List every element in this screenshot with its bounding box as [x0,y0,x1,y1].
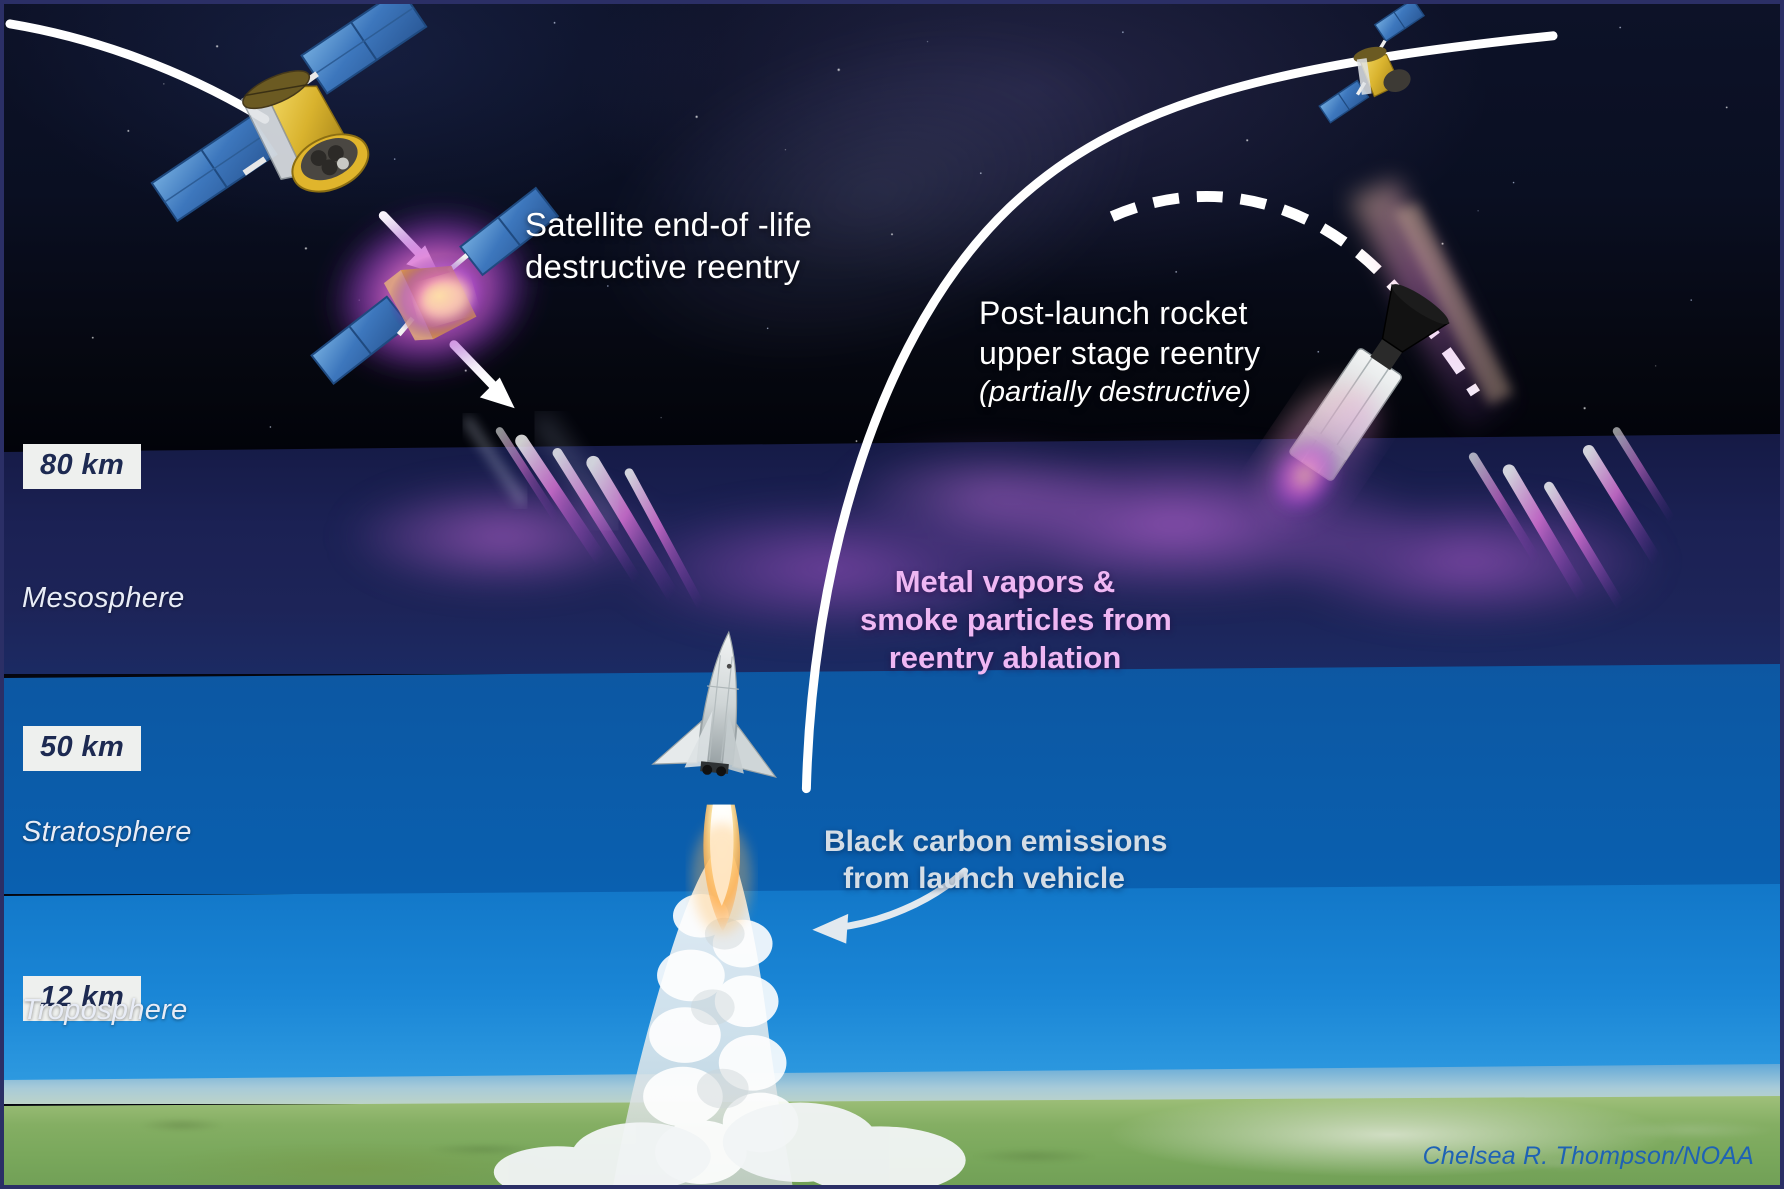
rocket-flame [692,805,752,934]
callout-satellite-reentry: Satellite end-of -life destructive reent… [525,204,812,288]
callout-vapors-line1: Metal vapors & [860,563,1150,601]
altitude-label-80km: 80 km [23,444,141,489]
infographic-canvas: 80 km 50 km 12 km Mesosphere Stratospher… [0,0,1784,1189]
callout-satellite-line1: Satellite end-of -life [525,204,812,246]
layer-label-mesosphere: Mesosphere [22,582,185,615]
callout-rocket-line3: (partially destructive) [979,374,1260,411]
callout-rocket-line1: Post-launch rocket [979,293,1260,333]
callout-carbon-line2: from launch vehicle [824,861,1144,898]
callout-metal-vapors: Metal vapors & smoke particles from reen… [860,563,1150,676]
satellite-icon [119,4,464,242]
callout-satellite-line2: destructive reentry [525,246,812,288]
orbit-trajectory-line [10,24,265,119]
callout-carbon-line1: Black carbon emissions [824,824,1144,861]
callout-black-carbon: Black carbon emissions from launch vehic… [824,824,1144,897]
callout-vapors-line2: smoke particles from [860,601,1150,639]
callout-rocket-stage-reentry: Post-launch rocket upper stage reentry (… [979,293,1260,410]
callout-vapors-line3: reentry ablation [860,639,1150,677]
altitude-label-50km: 50 km [23,726,141,771]
callout-rocket-line2: upper stage reentry [979,333,1260,373]
launch-rocket-icon [652,626,790,782]
ablation-streaks-left [468,421,701,606]
layer-label-stratosphere: Stratosphere [22,816,192,849]
image-credit: Chelsea R. Thompson/NOAA [1423,1142,1754,1171]
layer-label-troposphere: Troposphere [22,994,188,1027]
rocket-upper-stage-icon [1236,272,1462,545]
ablation-streaks-right [1473,431,1672,606]
